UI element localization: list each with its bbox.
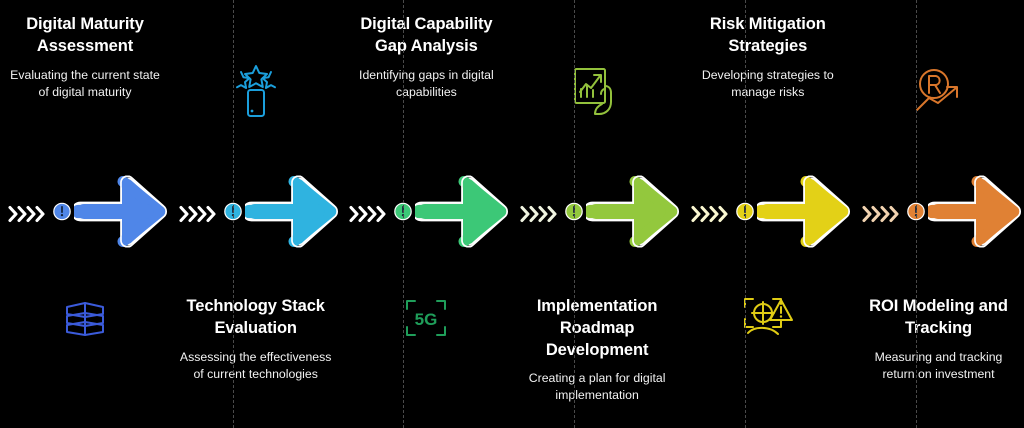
milestone-dot-icon xyxy=(906,202,926,222)
hand-holding-growth-chart-icon xyxy=(512,62,682,122)
process-step-3: Digital Capability Gap AnalysisIdentifyi… xyxy=(341,0,511,428)
chevron-marks-icon xyxy=(179,204,221,225)
step-text-block: Technology Stack EvaluationAssessing the… xyxy=(171,296,341,382)
milestone-dot xyxy=(564,202,584,227)
step-description: Evaluating the current state of digital … xyxy=(4,67,166,101)
step-text-block: Digital Maturity AssessmentEvaluating th… xyxy=(0,14,170,100)
step-description: Assessing the effectiveness of current t… xyxy=(175,349,337,383)
chevron-group xyxy=(8,204,50,225)
flow-arrow xyxy=(74,176,169,253)
milestone-dot-icon xyxy=(52,202,72,222)
chevron-group xyxy=(179,204,221,225)
milestone-dot-icon xyxy=(393,202,413,222)
step-text-block: Risk Mitigation StrategiesDeveloping str… xyxy=(683,14,853,100)
flow-arrow-icon xyxy=(928,176,1023,248)
flow-arrow xyxy=(757,176,852,253)
process-step-4: Implementation Roadmap DevelopmentCreati… xyxy=(512,0,682,428)
step-arrow-band xyxy=(171,178,341,250)
flow-arrow-icon xyxy=(757,176,852,248)
milestone-dot xyxy=(906,202,926,227)
step-arrow-band xyxy=(0,178,170,250)
flow-arrow-icon xyxy=(245,176,340,248)
chevron-marks-icon xyxy=(691,204,733,225)
process-step-5: Risk Mitigation StrategiesDeveloping str… xyxy=(683,0,853,428)
flow-arrow-icon xyxy=(74,176,169,248)
step-title: Technology Stack Evaluation xyxy=(175,296,337,340)
chevron-marks-icon xyxy=(862,204,904,225)
svg-text:5G: 5G xyxy=(415,310,438,329)
step-title: Digital Capability Gap Analysis xyxy=(345,14,507,58)
milestone-dot xyxy=(52,202,72,227)
flow-arrow-icon xyxy=(586,176,681,248)
step-text-block: ROI Modeling and TrackingMeasuring and t… xyxy=(854,296,1024,382)
step-arrow-band xyxy=(854,178,1024,250)
process-step-6: ROI Modeling and TrackingMeasuring and t… xyxy=(854,0,1024,428)
step-description: Measuring and tracking return on investm… xyxy=(858,349,1020,383)
chevron-group xyxy=(691,204,733,225)
process-step-2: Technology Stack EvaluationAssessing the… xyxy=(171,0,341,428)
flow-arrow-icon xyxy=(415,176,510,248)
flow-arrow xyxy=(245,176,340,253)
flow-arrow xyxy=(586,176,681,253)
chevron-marks-icon xyxy=(8,204,50,225)
flow-arrow xyxy=(415,176,510,253)
step-title: ROI Modeling and Tracking xyxy=(858,296,1020,340)
step-arrow-band xyxy=(512,178,682,250)
milestone-dot xyxy=(735,202,755,227)
step-title: Risk Mitigation Strategies xyxy=(687,14,849,58)
layers-stack-icon xyxy=(0,288,170,348)
step-title: Implementation Roadmap Development xyxy=(516,296,678,361)
flow-arrow xyxy=(928,176,1023,253)
five-g-scan-icon: 5G xyxy=(341,288,511,348)
mobile-rating-stars-icon xyxy=(171,62,341,122)
step-arrow-band xyxy=(683,178,853,250)
process-step-1: Digital Maturity AssessmentEvaluating th… xyxy=(0,0,170,428)
chevron-marks-icon xyxy=(349,204,391,225)
milestone-dot-icon xyxy=(735,202,755,222)
step-title: Digital Maturity Assessment xyxy=(4,14,166,58)
step-text-block: Digital Capability Gap AnalysisIdentifyi… xyxy=(341,14,511,100)
milestone-dot-icon xyxy=(564,202,584,222)
milestone-dot xyxy=(393,202,413,227)
milestone-dot xyxy=(223,202,243,227)
chevron-group xyxy=(520,204,562,225)
roi-circle-arrow-icon xyxy=(854,62,1024,122)
step-description: Creating a plan for digital implementati… xyxy=(516,370,678,404)
step-arrow-band xyxy=(341,178,511,250)
chevron-group xyxy=(862,204,904,225)
step-description: Identifying gaps in digital capabilities xyxy=(345,67,507,101)
step-description: Developing strategies to manage risks xyxy=(687,67,849,101)
step-text-block: Implementation Roadmap DevelopmentCreati… xyxy=(512,296,682,404)
chevron-marks-icon xyxy=(520,204,562,225)
milestone-dot-icon xyxy=(223,202,243,222)
process-flow-infographic: Digital Maturity AssessmentEvaluating th… xyxy=(0,0,1024,428)
chevron-group xyxy=(349,204,391,225)
scan-warning-alert-icon xyxy=(683,288,853,348)
